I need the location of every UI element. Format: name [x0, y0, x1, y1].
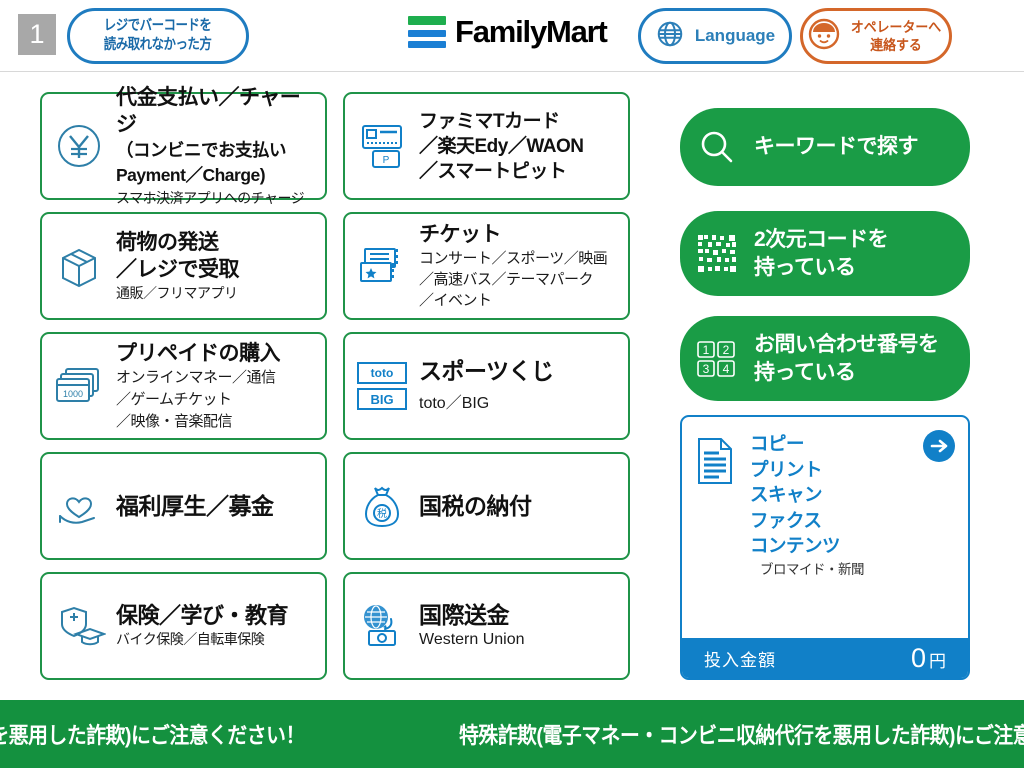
copy-line-fax: ファクス — [750, 508, 968, 534]
copy-print-body: コピー プリント スキャン ファクス コンテンツ ブロマイド・新聞 — [682, 417, 968, 639]
menu-card-famima-t-card-text: ファミマTカード ／楽天Edy／WAON ／スマートピット — [419, 109, 628, 184]
menu-card-payment-charge-text: 代金支払い／チャージ （コンビニでお支払い Payment／Charge) スマ… — [116, 84, 325, 209]
card-note-1: コンサート／スポーツ／映画 — [419, 248, 622, 269]
familymart-logo-bars-icon — [408, 16, 446, 48]
menu-card-parcel-shipping[interactable]: 荷物の発送 ／レジで受取 通販／フリマアプリ — [40, 212, 327, 320]
document-copy-icon — [682, 431, 750, 639]
svg-text:税: 税 — [377, 507, 387, 520]
card-line-3: ／スマートピット — [419, 159, 622, 184]
svg-text:1: 1 — [703, 343, 710, 357]
card-title: 代金支払い／チャージ — [116, 84, 319, 138]
operator-button-label: オペレーターへ 連絡する — [851, 18, 941, 54]
famima-t-card-icon: P — [345, 120, 419, 172]
qr-code-icon — [680, 233, 754, 275]
menu-card-prepaid-purchase[interactable]: 1000 プリペイドの購入 オンラインマネー／通信 ／ゲームチケット ／映像・音… — [40, 332, 327, 440]
tax-moneybag-icon: 税 — [345, 480, 419, 532]
have-qr-code-label: 2次元コードを 持っている — [754, 226, 888, 282]
card-title: プリペイドの購入 — [116, 340, 319, 367]
yen-coin-icon — [42, 119, 116, 173]
ticket-star-icon — [345, 243, 419, 289]
card-line-1: ファミマTカード — [419, 109, 622, 134]
svg-text:BIG: BIG — [370, 392, 393, 407]
operator-button-line2: 連絡する — [851, 36, 941, 54]
header-bar: 1 レジでバーコードを 読み取れなかった方 FamilyMart — [0, 0, 1024, 72]
menu-card-insurance-education-text: 保険／学び・教育 バイク保険／自転車保険 — [116, 602, 325, 650]
card-title: チケット — [419, 221, 622, 248]
inquiry-label-line1: お問い合わせ番号を — [754, 331, 939, 359]
parcel-box-icon — [42, 240, 116, 292]
ticker-message: 特殊詐欺(電子マネー・コンビニ収納代行を悪用した詐欺)にご注意ください！ — [459, 718, 1024, 750]
operator-face-icon — [807, 17, 841, 56]
inserted-amount-number: 0 — [911, 643, 926, 674]
prepaid-card-icon: 1000 — [42, 363, 116, 409]
card-note-3: ／映像・音楽配信 — [116, 411, 319, 433]
search-icon — [680, 127, 754, 167]
menu-card-parcel-shipping-text: 荷物の発送 ／レジで受取 通販／フリマアプリ — [116, 229, 325, 304]
card-title: 国際送金 — [419, 602, 622, 629]
ticker-message: 特殊詐欺(電子マネー・コンビニ収納代行を悪用した詐欺)にご注意ください！ — [0, 718, 377, 750]
toto-big-icon: toto BIG — [345, 357, 419, 415]
barcode-button-label: レジでバーコードを 読み取れなかった方 — [104, 17, 212, 55]
card-line-2: ／楽天Edy／WAON — [419, 134, 622, 159]
copy-print-panel[interactable]: コピー プリント スキャン ファクス コンテンツ ブロマイド・新聞 投入金額 — [680, 415, 970, 680]
menu-card-famima-t-card[interactable]: P ファミマTカード ／楽天Edy／WAON ／スマートピット — [343, 92, 630, 200]
operator-button-line1: オペレーターへ — [851, 18, 941, 36]
step-number-badge: 1 — [18, 14, 56, 55]
card-note: スマホ決済アプリへのチャージ — [116, 188, 319, 209]
inserted-amount-value: 0 円 — [911, 643, 946, 674]
card-note-1: オンラインマネー／通信 — [116, 367, 319, 389]
card-title: 福利厚生／募金 — [116, 493, 319, 520]
search-by-keyword-button[interactable]: キーワードで探す — [680, 108, 970, 186]
menu-card-national-tax-text: 国税の納付 — [419, 493, 628, 520]
kiosk-screen: 1 レジでバーコードを 読み取れなかった方 FamilyMart — [0, 0, 1024, 768]
menu-card-welfare-donation-text: 福利厚生／募金 — [116, 493, 325, 520]
card-subtitle-2: Payment／Charge) — [116, 163, 319, 188]
card-note: バイク保険／自転車保険 — [116, 629, 319, 650]
copy-line-contents: コンテンツ — [750, 533, 968, 559]
card-title: スポーツくじ — [419, 358, 622, 385]
inserted-amount-label: 投入金額 — [704, 646, 776, 671]
card-title-line1: 荷物の発送 — [116, 229, 319, 256]
card-title: 国税の納付 — [419, 493, 622, 520]
card-note: toto／BIG — [419, 393, 622, 415]
card-note-2: ／高速バス／テーマパーク — [419, 269, 622, 290]
svg-text:2: 2 — [723, 343, 730, 357]
familymart-logo-text: FamilyMart — [455, 16, 607, 48]
card-note: 通販／フリマアプリ — [116, 283, 319, 304]
globe-money-icon — [345, 601, 419, 651]
menu-card-insurance-education[interactable]: 保険／学び・教育 バイク保険／自転車保険 — [40, 572, 327, 680]
contact-operator-button[interactable]: オペレーターへ 連絡する — [800, 8, 952, 64]
language-button-label: Language — [695, 26, 775, 46]
have-qr-code-button[interactable]: 2次元コードを 持っている — [680, 211, 970, 296]
main-content: 代金支払い／チャージ （コンビニでお支払い Payment／Charge) スマ… — [0, 72, 1024, 696]
copy-line-scan: スキャン — [750, 482, 968, 508]
inserted-amount-bar: 投入金額 0 円 — [682, 638, 968, 678]
svg-text:4: 4 — [723, 362, 730, 376]
have-inquiry-number-button[interactable]: 1 2 3 4 お問い合わせ番号を 持っている — [680, 316, 970, 401]
qr-label-line1: 2次元コードを — [754, 226, 888, 254]
familymart-logo: FamilyMart — [408, 16, 607, 48]
menu-card-sports-lottery-text: スポーツくじ toto／BIG — [419, 358, 628, 415]
have-inquiry-number-label: お問い合わせ番号を 持っている — [754, 331, 939, 387]
search-by-keyword-label: キーワードで探す — [754, 133, 918, 161]
barcode-button-line1: レジでバーコードを — [104, 17, 212, 36]
qr-label-line2: 持っている — [754, 254, 888, 282]
scrolling-warning-banner: 特殊詐欺(電子マネー・コンビニ収納代行を悪用した詐欺)にご注意ください！ 特殊詐… — [0, 700, 1024, 768]
menu-card-international-remittance[interactable]: 国際送金 Western Union — [343, 572, 630, 680]
heart-hand-icon — [42, 482, 116, 530]
card-note-2: ／ゲームチケット — [116, 389, 319, 411]
svg-text:1000: 1000 — [63, 389, 83, 399]
number-keypad-icon: 1 2 3 4 — [680, 339, 754, 379]
language-button[interactable]: Language — [638, 8, 792, 64]
arrow-right-circle-icon[interactable] — [922, 429, 956, 468]
menu-card-international-remittance-text: 国際送金 Western Union — [419, 602, 628, 651]
menu-card-national-tax[interactable]: 税 国税の納付 — [343, 452, 630, 560]
menu-card-prepaid-purchase-text: プリペイドの購入 オンラインマネー／通信 ／ゲームチケット ／映像・音楽配信 — [116, 340, 325, 433]
card-subtitle-1: （コンビニでお支払い — [116, 138, 319, 163]
barcode-button-line2: 読み取れなかった方 — [104, 36, 212, 55]
insurance-education-icon — [42, 602, 116, 650]
menu-card-ticket[interactable]: チケット コンサート／スポーツ／映画 ／高速バス／テーマパーク ／イベント — [343, 212, 630, 320]
menu-card-payment-charge[interactable]: 代金支払い／チャージ （コンビニでお支払い Payment／Charge) スマ… — [40, 92, 327, 200]
inquiry-label-line2: 持っている — [754, 359, 939, 387]
barcode-not-read-button[interactable]: レジでバーコードを 読み取れなかった方 — [67, 8, 249, 64]
card-title-line2: ／レジで受取 — [116, 256, 319, 283]
svg-text:toto: toto — [371, 366, 394, 380]
menu-card-welfare-donation[interactable]: 福利厚生／募金 — [40, 452, 327, 560]
menu-card-sports-lottery[interactable]: toto BIG スポーツくじ toto／BIG — [343, 332, 630, 440]
card-title: 保険／学び・教育 — [116, 602, 319, 629]
svg-text:P: P — [383, 155, 390, 166]
copy-line-sub: ブロマイド・新聞 — [750, 559, 968, 581]
card-note: Western Union — [419, 629, 622, 651]
svg-text:3: 3 — [703, 362, 710, 376]
ticker-track: 特殊詐欺(電子マネー・コンビニ収納代行を悪用した詐欺)にご注意ください！ 特殊詐… — [0, 718, 1024, 750]
inserted-amount-currency: 円 — [929, 647, 946, 672]
card-note-3: ／イベント — [419, 290, 622, 311]
menu-card-ticket-text: チケット コンサート／スポーツ／映画 ／高速バス／テーマパーク ／イベント — [419, 221, 628, 311]
globe-icon — [655, 19, 685, 54]
